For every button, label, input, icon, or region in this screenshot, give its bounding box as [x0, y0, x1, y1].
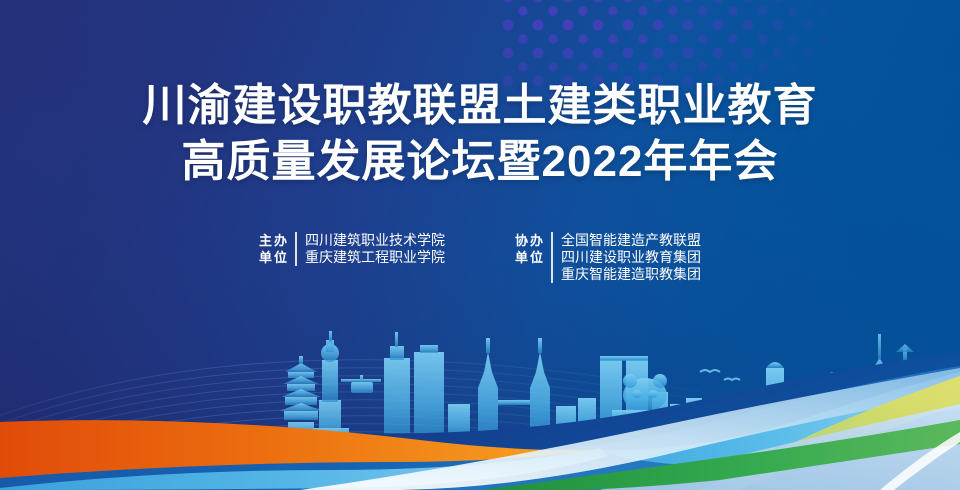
organizers-block: 主办 单位 四川建筑职业技术学院 重庆建筑工程职业学院 协办 单位 全国智能建造…	[0, 232, 960, 283]
cohost-name-list: 全国智能建造产教联盟 四川建设职业教育集团 重庆智能建造职教集团	[561, 232, 701, 283]
cohost-name: 四川建设职业教育集团	[561, 249, 701, 266]
cohost-name: 全国智能建造产教联盟	[561, 232, 701, 249]
cohost-name: 重庆智能建造职教集团	[561, 266, 701, 283]
banner-title: 川渝建设职教联盟土建类职业教育 高质量发展论坛暨2022年年会	[0, 78, 960, 190]
cohost-divider	[551, 232, 553, 283]
title-line-2: 高质量发展论坛暨2022年年会	[0, 134, 960, 190]
title-line-1: 川渝建设职教联盟土建类职业教育	[0, 78, 960, 134]
host-name: 四川建筑职业技术学院	[305, 232, 445, 249]
host-label-line-2: 单位	[259, 249, 289, 266]
host-label: 主办 单位	[259, 232, 295, 266]
cohost-label-line-1: 协办	[515, 232, 545, 249]
conference-banner: 川渝建设职教联盟土建类职业教育 高质量发展论坛暨2022年年会 主办 单位 四川…	[0, 0, 960, 490]
host-divider	[295, 232, 297, 266]
cohost-label-line-2: 单位	[515, 249, 545, 266]
cohost-label: 协办 单位	[515, 232, 551, 266]
host-name: 重庆建筑工程职业学院	[305, 249, 445, 266]
host-organizer-group: 主办 单位 四川建筑职业技术学院 重庆建筑工程职业学院	[259, 232, 445, 266]
cohost-organizer-group: 协办 单位 全国智能建造产教联盟 四川建设职业教育集团 重庆智能建造职教集团	[515, 232, 701, 283]
host-name-list: 四川建筑职业技术学院 重庆建筑工程职业学院	[305, 232, 445, 266]
host-label-line-1: 主办	[259, 232, 289, 249]
